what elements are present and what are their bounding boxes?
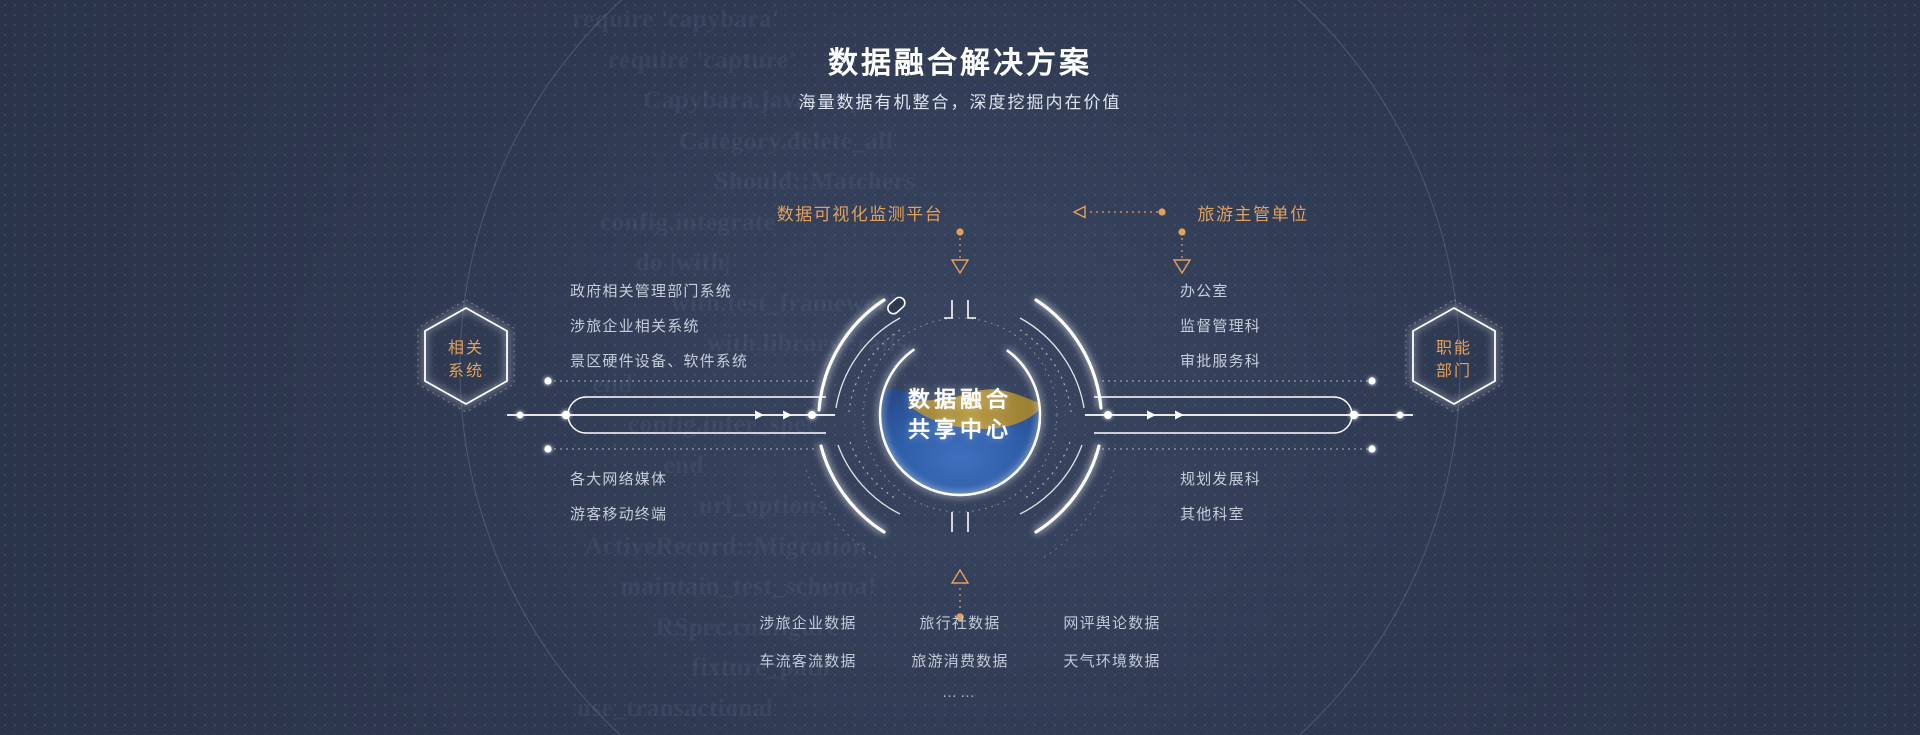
left-lower-item-0[interactable]: 各大网络媒体 [570,468,667,489]
top-node-left-label[interactable]: 数据可视化监测平台 [777,200,944,225]
diagram-canvas: require 'capybara'require 'capture'Capyb… [0,0,1920,735]
bottom-row2-item-0[interactable]: 车流客流数据 [759,650,856,671]
bottom-row1-item-0[interactable]: 涉旅企业数据 [759,612,856,633]
ring-arc-top-right [1036,300,1101,408]
core-label: 数据融合 共享中心 [908,385,1012,444]
right-upper-item-1[interactable]: 监督管理科 [1180,315,1261,336]
right-lower-item-1[interactable]: 其他科室 [1180,503,1245,524]
right-hexagon-label-line2: 部门 [1436,360,1472,383]
left-upper-item-1[interactable]: 涉旅企业相关系统 [570,315,700,336]
left-upper-item-0[interactable]: 政府相关管理部门系统 [570,280,732,301]
bracket-top-left [944,300,952,318]
core-label-line2: 共享中心 [908,415,1012,445]
left-connector-group [507,377,835,452]
top-right-down-arrow [1174,228,1190,273]
right-hexagon-label[interactable]: 职能 部门 [1436,337,1472,383]
right-lower-item-0[interactable]: 规划发展科 [1180,468,1261,489]
left-hexagon-label-line1: 相关 [448,337,484,360]
right-upper-item-0[interactable]: 办公室 [1180,280,1229,301]
top-node-right-label[interactable]: 旅游主管单位 [1198,200,1309,225]
bottom-row1-item-2[interactable]: 网评舆论数据 [1063,612,1160,633]
ring-arc-bottom-right [1036,446,1099,532]
decor-arc-left [806,470,880,560]
right-connector-group [1085,377,1413,452]
left-hexagon-label[interactable]: 相关 系统 [448,337,484,383]
bracket-top-right [968,300,976,318]
core-label-line1: 数据融合 [908,385,1012,415]
bottom-row1-item-1[interactable]: 旅行社数据 [919,612,1000,633]
bottom-more-ellipsis: …… [942,684,978,701]
arc-node-capsule [886,295,907,316]
left-lower-item-1[interactable]: 游客移动终端 [570,503,667,524]
ring-arc-top-left [819,300,884,410]
left-hexagon-label-line2: 系统 [448,360,484,383]
left-upper-item-2[interactable]: 景区硬件设备、软件系统 [570,350,748,371]
page-title: 数据融合解决方案 [0,38,1920,82]
right-hexagon-label-line1: 职能 [1436,337,1472,360]
right-upper-item-2[interactable]: 审批服务科 [1180,350,1261,371]
bottom-row2-item-2[interactable]: 天气环境数据 [1063,650,1160,671]
ring-arc-bottom-left [821,446,884,532]
top-left-down-arrow [952,228,968,273]
page-subtitle: 海量数据有机整合，深度挖掘内在价值 [0,88,1920,113]
top-horizontal-arrow [1074,207,1166,218]
decor-arc-right [1040,470,1114,560]
bottom-row2-item-1[interactable]: 旅游消费数据 [911,650,1008,671]
